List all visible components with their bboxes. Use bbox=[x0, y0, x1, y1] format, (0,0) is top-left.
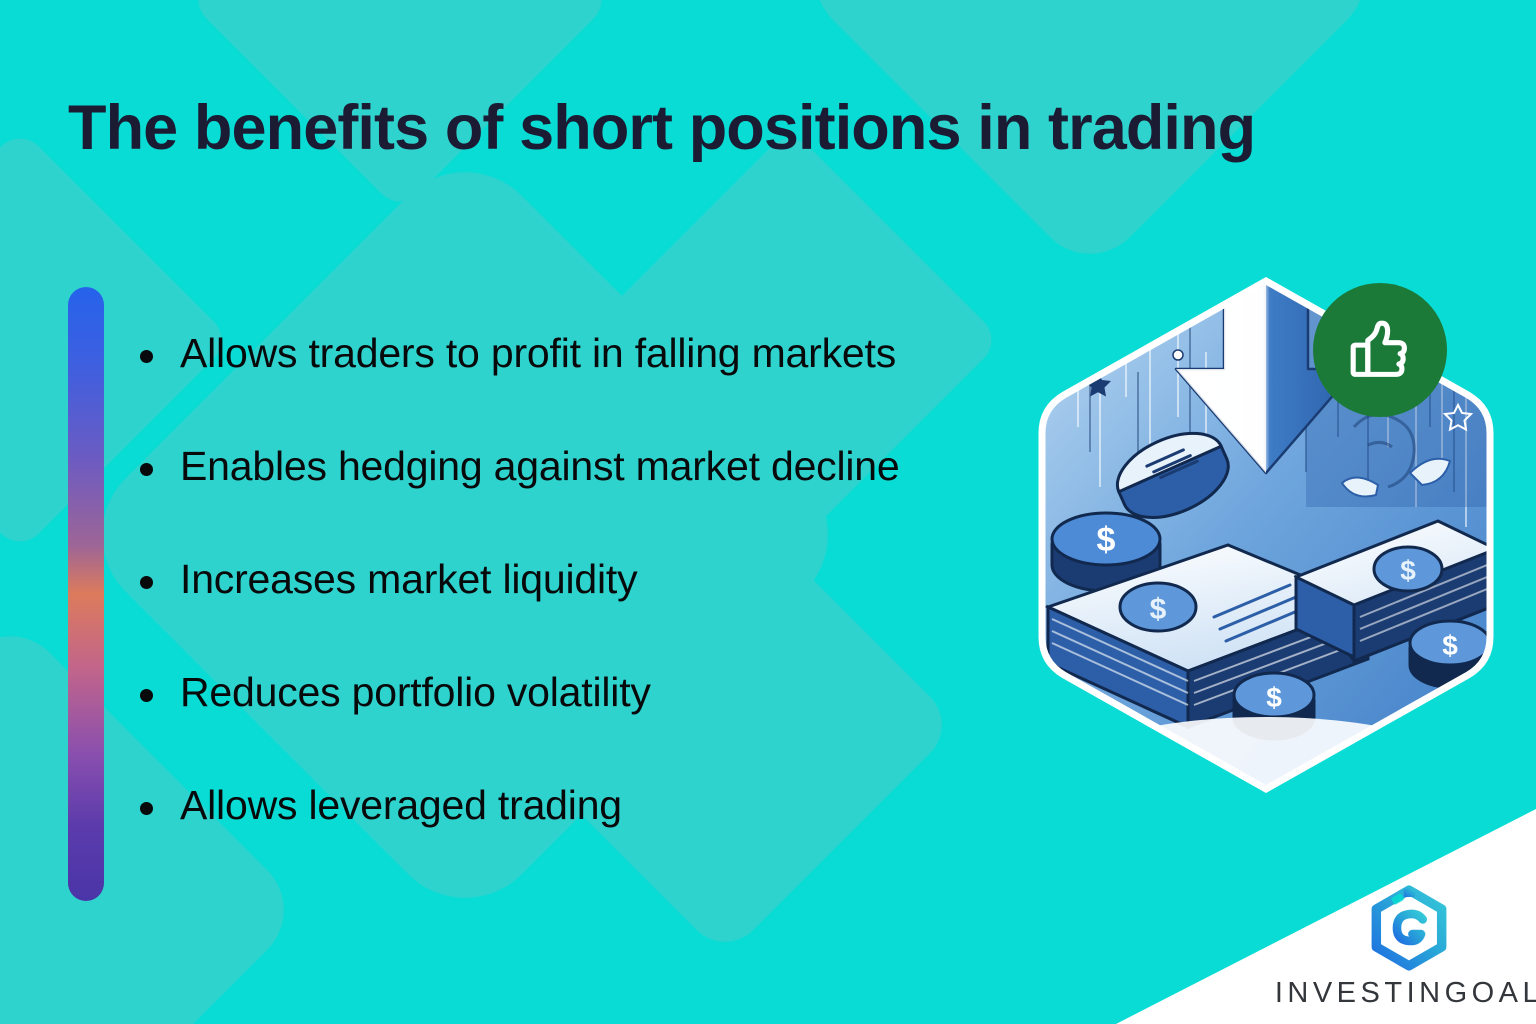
gradient-accent-bar bbox=[68, 287, 104, 901]
list-item-label: Allows leveraged trading bbox=[180, 782, 622, 829]
list-item-label: Allows traders to profit in falling mark… bbox=[180, 330, 896, 377]
investingoal-hexagon-g-logo-icon bbox=[1366, 885, 1452, 971]
bullet-dot-icon bbox=[140, 576, 153, 589]
svg-text:$: $ bbox=[1442, 630, 1458, 661]
svg-text:$: $ bbox=[1400, 555, 1416, 586]
svg-text:$: $ bbox=[1097, 521, 1116, 559]
thumbs-up-icon bbox=[1341, 311, 1419, 389]
bullet-dot-icon bbox=[140, 802, 153, 815]
bullet-dot-icon bbox=[140, 689, 153, 702]
brand-wordmark: INVESTINGOAL bbox=[1275, 977, 1536, 1010]
list-item-label: Reduces portfolio volatility bbox=[180, 669, 651, 716]
brand-logo[interactable]: INVESTINGOAL bbox=[1274, 885, 1536, 1010]
list-item-label: Increases market liquidity bbox=[180, 556, 637, 603]
list-item: Allows traders to profit in falling mark… bbox=[140, 330, 1040, 443]
thumbs-up-badge bbox=[1313, 283, 1447, 417]
list-item: Enables hedging against market decline bbox=[140, 443, 1040, 556]
list-item: Allows leveraged trading bbox=[140, 782, 1040, 895]
bullet-dot-icon bbox=[140, 463, 153, 476]
svg-text:$: $ bbox=[1150, 593, 1167, 626]
list-item: Increases market liquidity bbox=[140, 556, 1040, 669]
svg-text:$: $ bbox=[1266, 682, 1282, 713]
benefits-list: Allows traders to profit in falling mark… bbox=[140, 330, 1040, 895]
infographic-canvas: The benefits of short positions in tradi… bbox=[0, 0, 1536, 1024]
bullet-dot-icon bbox=[140, 350, 153, 363]
list-item-label: Enables hedging against market decline bbox=[180, 443, 900, 490]
list-item: Reduces portfolio volatility bbox=[140, 669, 1040, 782]
page-title: The benefits of short positions in tradi… bbox=[68, 95, 1488, 161]
